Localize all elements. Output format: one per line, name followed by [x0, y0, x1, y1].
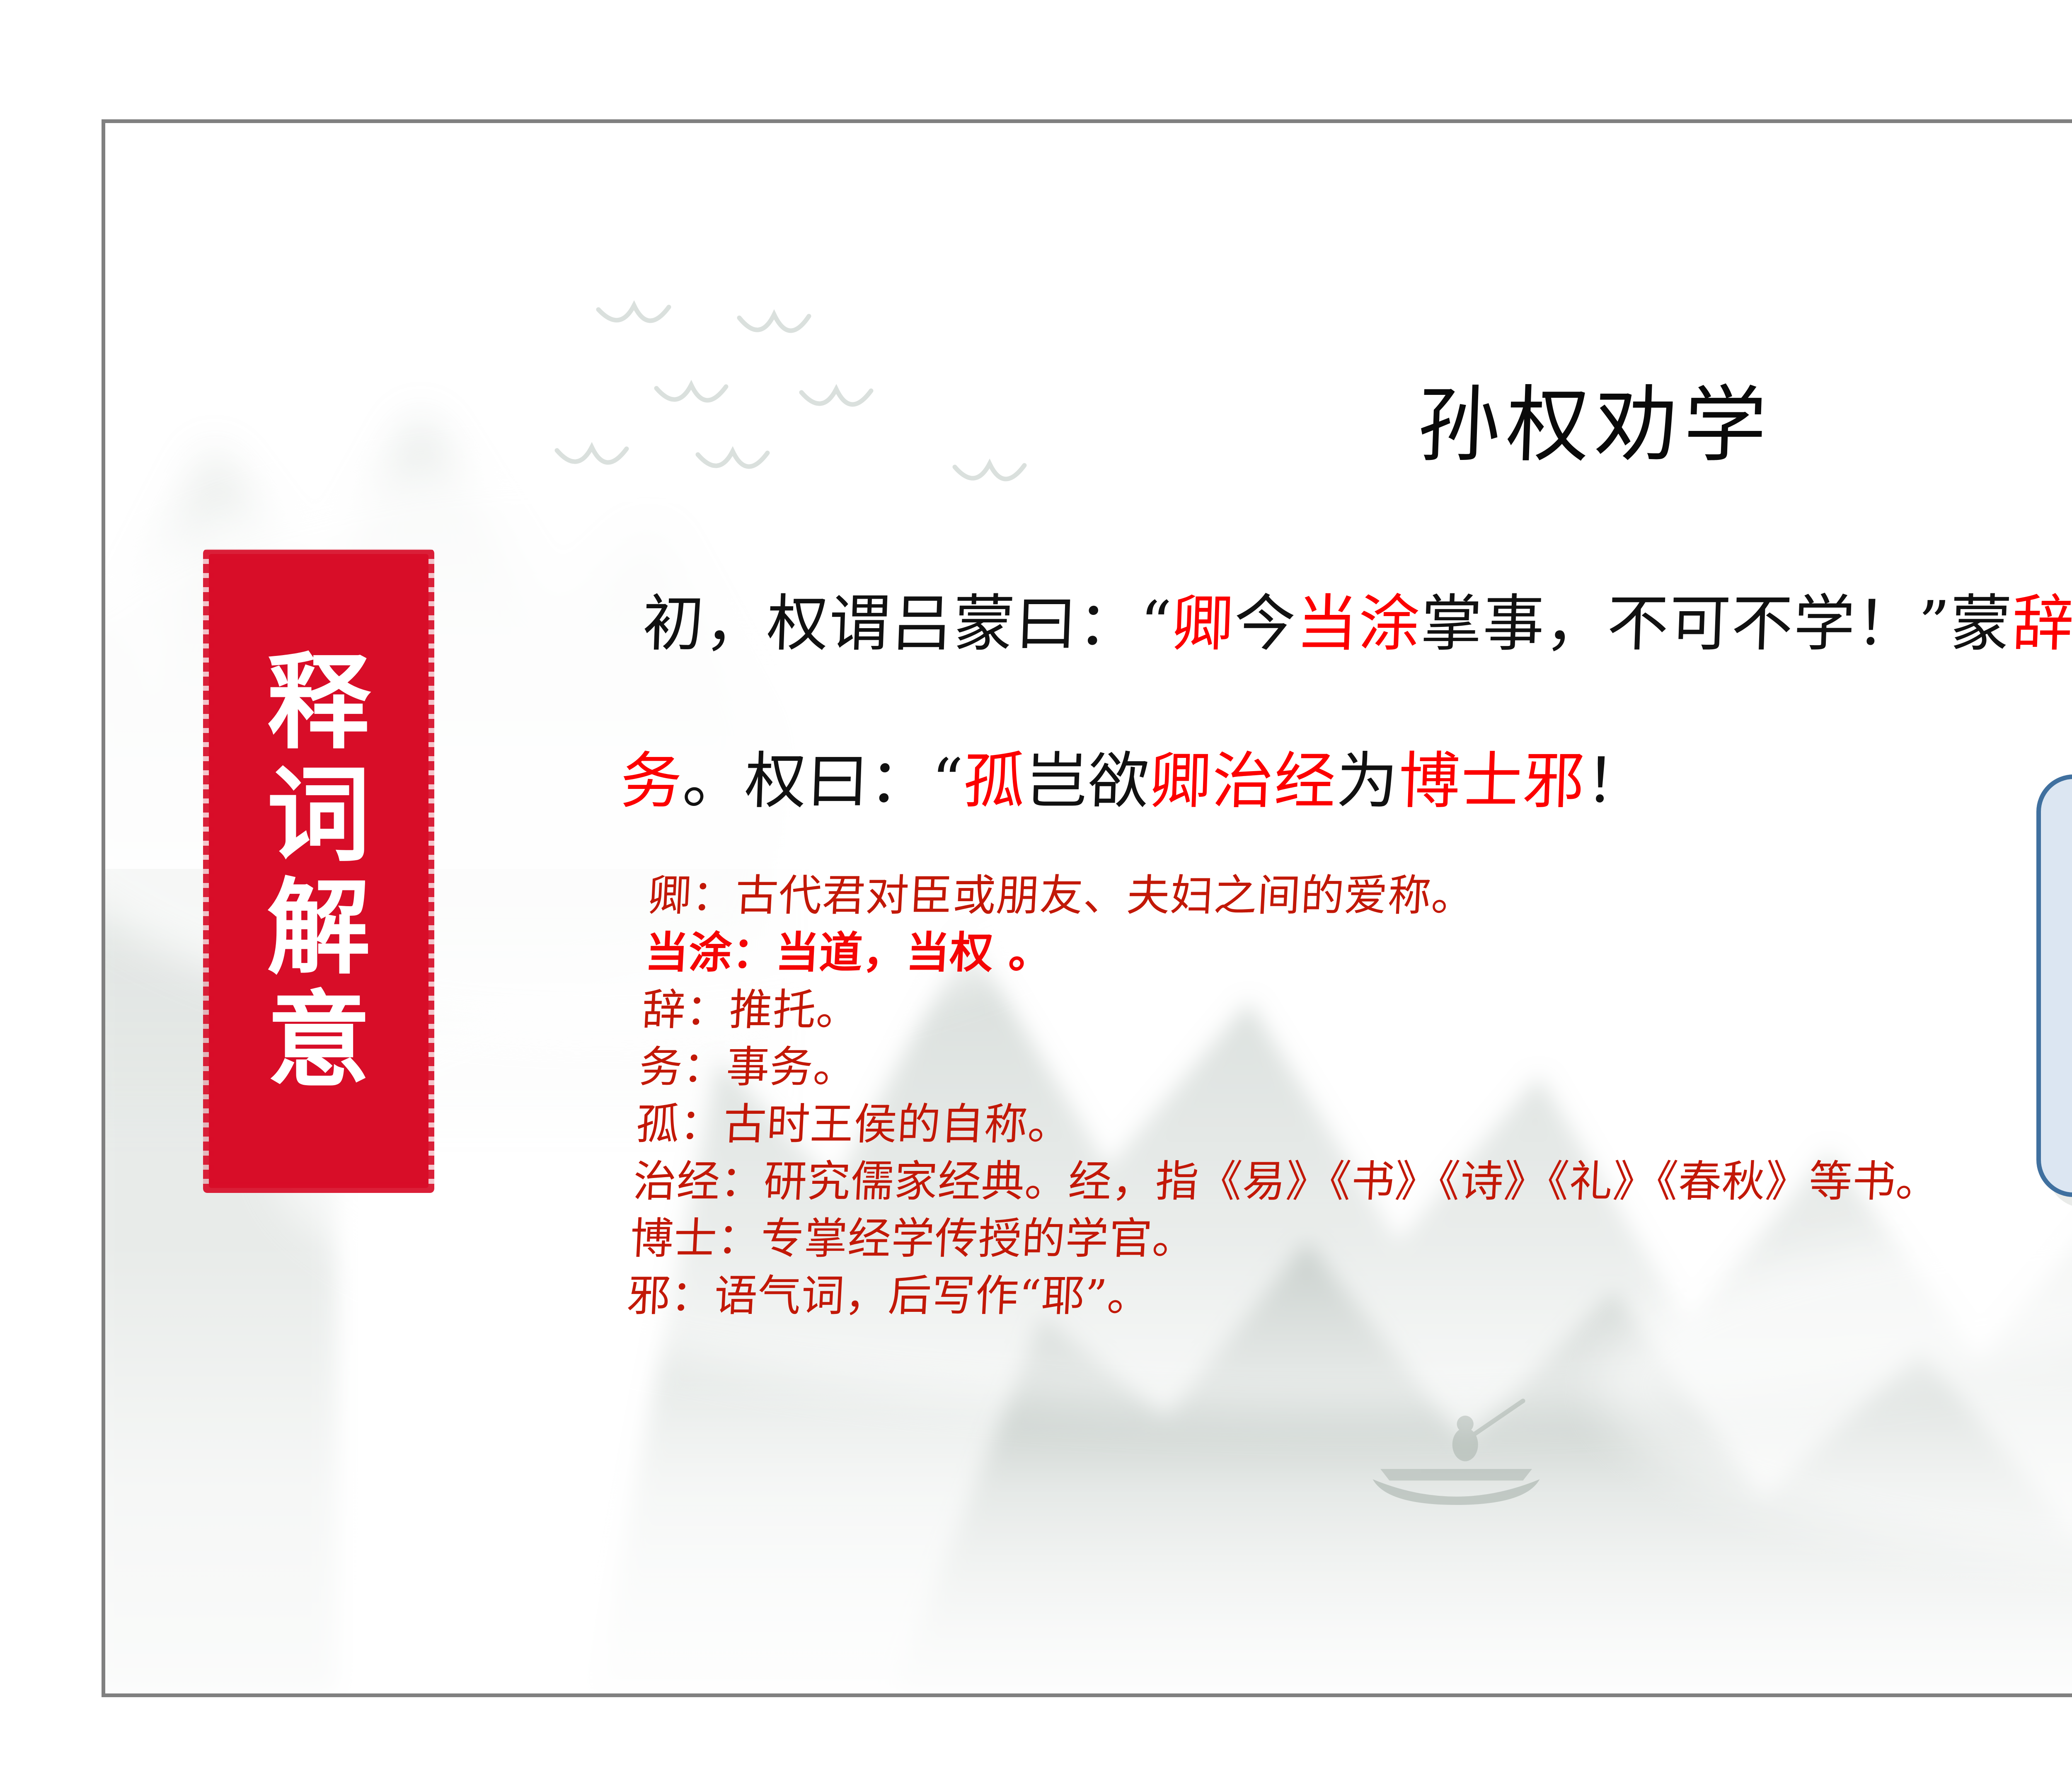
- note-item-wu: 务：事务。: [638, 1038, 2072, 1096]
- vocabulary-notes-list: 卿：古代君对臣或朋友、夫妇之间的爱称。 当涂：当道，当权 。 辞：推托。 务：事…: [626, 867, 2072, 1324]
- passage-run-5: 治经: [1211, 745, 1338, 817]
- page-title: 孙权劝学: [104, 384, 2072, 467]
- passage-run-7: 博士邪: [1397, 745, 1586, 817]
- passage-run-0: 务: [619, 745, 684, 817]
- passage-run-8: ！: [1584, 745, 1648, 817]
- passage-run-3: 当涂: [1295, 588, 1422, 659]
- translation-callout-box: 译文：当初，孙权对吕蒙说：“你现在当权管事了，不可不学习！”吕蒙用军中事务繁多来…: [2036, 774, 2072, 1197]
- passage-run-6: 为: [1335, 745, 1400, 817]
- seal-char-4: 意: [267, 988, 370, 1092]
- note-item-ci: 辞：推托。: [641, 981, 2072, 1038]
- note-item-dangtu: 当涂：当道，当权 。: [644, 924, 2072, 981]
- passage-line-2: 务。权曰：“孤岂欲卿治经为博士邪！: [618, 702, 2072, 860]
- boat-with-boatman: [1373, 1401, 1540, 1505]
- seal-char-3: 解: [267, 876, 370, 979]
- note-item-ye: 邪：语气词，后写作“耶”。: [626, 1267, 2072, 1324]
- passage-run-4: 卿: [1149, 745, 1213, 817]
- passage-run-3: 岂欲: [1024, 745, 1151, 817]
- passage-run-1: 卿: [1171, 588, 1235, 659]
- note-item-zhijing: 治经：研究儒家经典。经，指《易》《书》《诗》《礼》《春秋》等书。: [632, 1153, 2072, 1210]
- slide-frame: 释 词 解 意 孙权劝学 初，权谓吕蒙曰：“卿今当涂掌事，不可不学！”蒙辞以军中…: [102, 119, 2072, 1697]
- screenshot-root: 释 词 解 意 孙权劝学 初，权谓吕蒙曰：“卿今当涂掌事，不可不学！”蒙辞以军中…: [0, 0, 2072, 1790]
- seal-characters: 释 词 解 意: [209, 554, 428, 1188]
- passage-run-0: 初，权谓吕蒙曰：“: [641, 588, 1174, 659]
- passage-run-1: 。权曰：“: [681, 745, 965, 817]
- passage-run-4: 掌事，不可不学！”蒙: [1419, 588, 2014, 659]
- note-item-qing: 卿：古代君对臣或朋友、夫妇之间的爱称。: [647, 867, 2072, 924]
- passage-run-2: 今: [1233, 588, 1297, 659]
- seal-char-1: 释: [267, 650, 370, 754]
- passage-run-5: 辞: [2011, 588, 2072, 659]
- note-item-gu: 孤：古时王侯的自称。: [635, 1096, 2072, 1153]
- note-item-boshi: 博士：专掌经学传授的学官。: [629, 1210, 2072, 1267]
- classical-passage: 初，权谓吕蒙曰：“卿今当涂掌事，不可不学！”蒙辞以军中多 务。权曰：“孤岂欲卿治…: [634, 545, 2072, 860]
- red-seal-stamp: 释 词 解 意: [209, 554, 428, 1188]
- passage-line-1: 初，权谓吕蒙曰：“卿今当涂掌事，不可不学！”蒙辞以军中多: [640, 545, 2072, 702]
- passage-run-2: 孤: [962, 745, 1027, 817]
- seal-char-2: 词: [267, 763, 370, 866]
